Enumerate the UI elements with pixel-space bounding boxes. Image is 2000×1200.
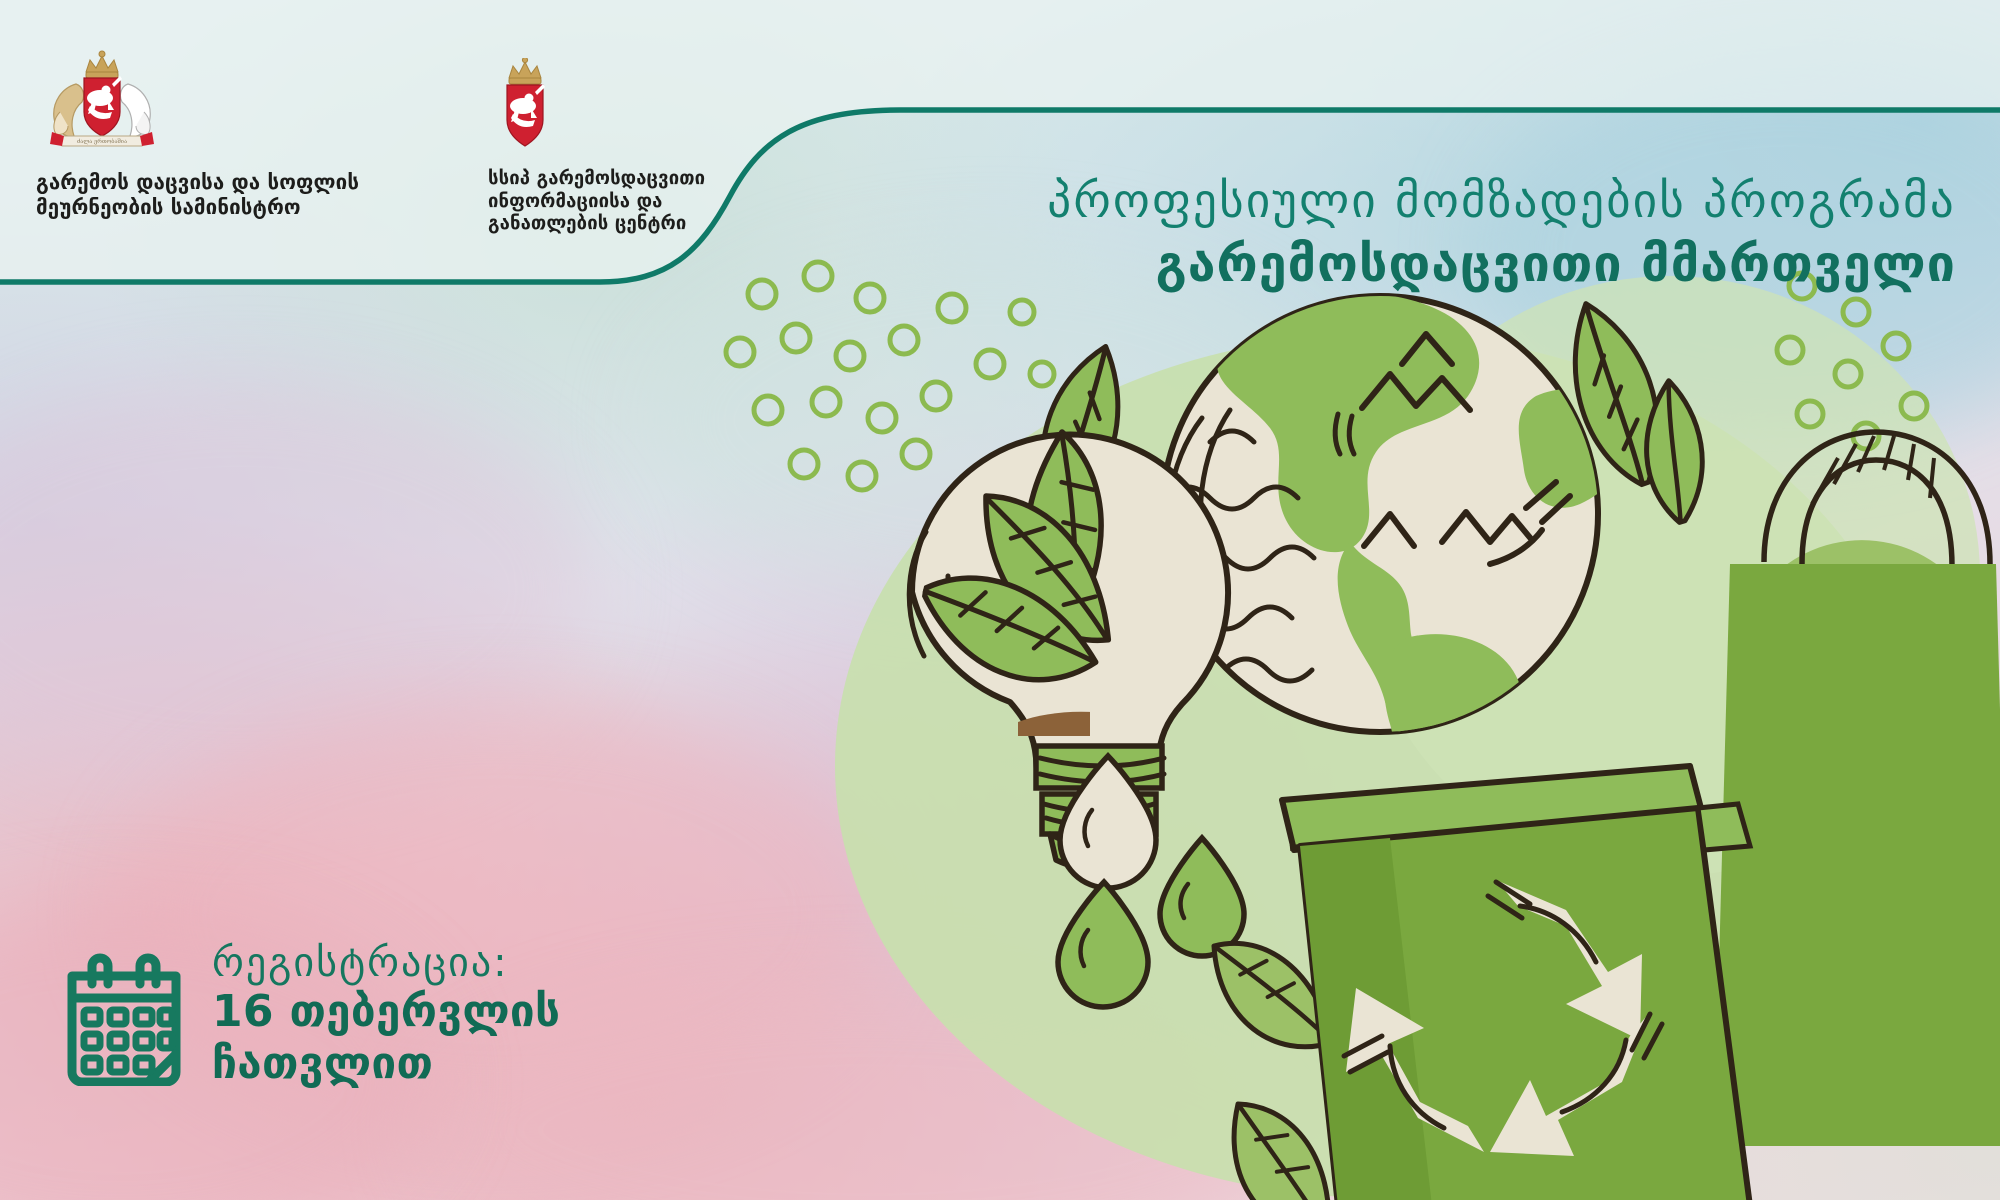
logo-ministry-line-2: მეურნეობის სამინისტრო [36, 195, 366, 220]
georgia-coat-of-arms-full-icon: ძალა ერთობაშია [42, 50, 162, 150]
page-title-line2: გარემოსდაცვითი მმართველი [1047, 235, 1956, 293]
program-title: პროფესიული მომზადების პროგრამა გარემოსდა… [1047, 176, 1956, 293]
poster-canvas: ძალა ერთობაშია გარემოს დაცვისა და სოფლის… [0, 0, 2000, 1200]
logo-center-line-1: სსიპ გარემოსდაცვითი [488, 168, 818, 191]
logo-center: სსიპ გარემოსდაცვითი ინფორმაციისა და განა… [488, 58, 818, 236]
page-title-line1: პროფესიული მომზადების პროგრამა [1047, 176, 1956, 229]
logo-ministry: ძალა ერთობაშია გარემოს დაცვისა და სოფლის… [36, 50, 366, 220]
svg-text:ძალა ერთობაშია: ძალა ერთობაშია [77, 138, 127, 145]
registration-label: რეგისტრაცია: [212, 940, 560, 986]
eco-illustration [690, 246, 2000, 1200]
registration-date-line2: ჩათვლით [212, 1038, 560, 1090]
recycling-bin [1282, 766, 1750, 1200]
registration-block: რეგისტრაცია: 16 თებერვლის ჩათვლით [62, 940, 560, 1090]
logo-ministry-line-1: გარემოს დაცვისა და სოფლის [36, 170, 366, 195]
registration-date-line1: 16 თებერვლის [212, 986, 560, 1038]
logo-center-line-3: განათლების ცენტრი [488, 213, 818, 236]
georgia-coat-of-arms-shield-icon [492, 58, 558, 150]
logo-center-line-2: ინფორმაციისა და [488, 191, 818, 214]
calendar-icon [62, 950, 186, 1086]
registration-text: რეგისტრაცია: 16 თებერვლის ჩათვლით [212, 940, 560, 1090]
